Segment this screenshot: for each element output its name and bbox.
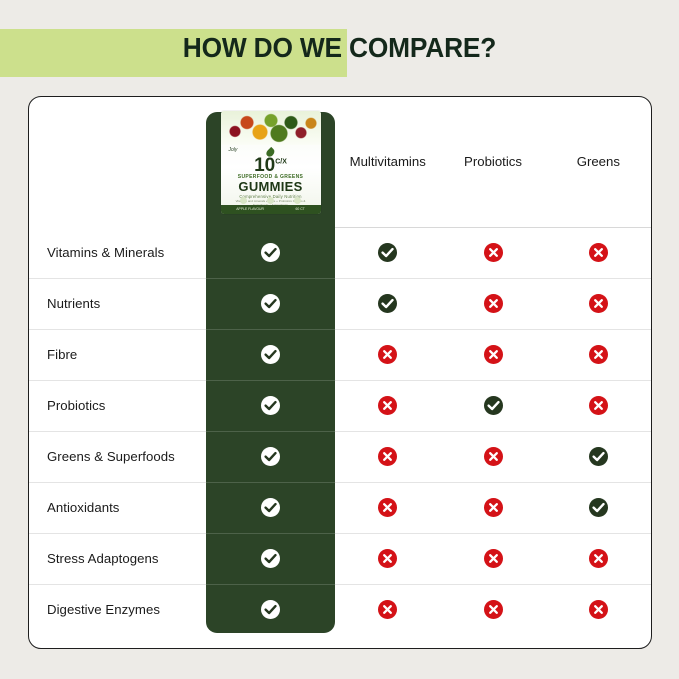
comparison-table: Joly 10C/X SUPERFOOD & GREENS GUMMIES Co… [29, 97, 651, 635]
cross-circle-icon [484, 345, 503, 364]
table-row: Greens & Superfoods [29, 431, 651, 482]
table-header: Joly 10C/X SUPERFOOD & GREENS GUMMIES Co… [29, 97, 651, 227]
cross-circle-icon [378, 345, 397, 364]
cell-greens-value [546, 533, 651, 584]
cell-greens-value [546, 329, 651, 380]
cell-product-value [206, 380, 335, 431]
cell-probiotics-value [440, 482, 545, 533]
cross-circle-icon [378, 549, 397, 568]
cell-product-value [206, 278, 335, 329]
check-circle-icon [261, 294, 280, 313]
table-row: Digestive Enzymes [29, 584, 651, 635]
row-feature-label: Greens & Superfoods [29, 431, 206, 482]
cell-product-value [206, 329, 335, 380]
cell-probiotics-value [440, 329, 545, 380]
cell-greens-value [546, 431, 651, 482]
pouch-flavour-label: APPLE FLAVOUR [236, 207, 264, 211]
header-probiotics: Probiotics [440, 97, 545, 227]
cross-circle-icon [484, 600, 503, 619]
table-row: Vitamins & Minerals [29, 227, 651, 278]
header-feature-column [29, 97, 206, 227]
cell-greens-value [546, 227, 651, 278]
table-row: Stress Adaptogens [29, 533, 651, 584]
page-title: HOW DO WE COMPARE? [20, 0, 658, 96]
row-feature-label: Nutrients [29, 278, 206, 329]
cell-multivitamins-value [335, 380, 440, 431]
cell-probiotics-value [440, 431, 545, 482]
cell-probiotics-value [440, 227, 545, 278]
check-circle-icon [261, 243, 280, 262]
check-circle-icon [261, 396, 280, 415]
check-circle-icon [378, 243, 397, 262]
cell-multivitamins-value [335, 329, 440, 380]
cell-greens-value [546, 584, 651, 635]
table-row: Nutrients [29, 278, 651, 329]
header-product-column: Joly 10C/X SUPERFOOD & GREENS GUMMIES Co… [206, 97, 335, 227]
pouch-brand-label: Joly [229, 147, 238, 153]
row-feature-label: Probiotics [29, 380, 206, 431]
check-circle-icon [589, 447, 608, 466]
cell-probiotics-value [440, 380, 545, 431]
cell-multivitamins-value [335, 227, 440, 278]
cross-circle-icon [589, 600, 608, 619]
product-pouch-image: Joly 10C/X SUPERFOOD & GREENS GUMMIES Co… [221, 111, 321, 214]
cell-multivitamins-value [335, 533, 440, 584]
cross-circle-icon [589, 294, 608, 313]
cell-probiotics-value [440, 278, 545, 329]
table-row: Fibre [29, 329, 651, 380]
cell-multivitamins-value [335, 431, 440, 482]
table-body: Vitamins & Minerals Nutrients Fibre Prob… [29, 227, 651, 635]
row-feature-label: Vitamins & Minerals [29, 227, 206, 278]
cell-multivitamins-value [335, 482, 440, 533]
cross-circle-icon [484, 447, 503, 466]
cross-circle-icon [484, 243, 503, 262]
cross-circle-icon [378, 447, 397, 466]
cross-circle-icon [589, 549, 608, 568]
benefit-icon-1 [240, 197, 247, 204]
cell-multivitamins-value [335, 278, 440, 329]
check-circle-icon [484, 396, 503, 415]
pouch-number: 10C/X [221, 156, 321, 175]
table-row: Antioxidants [29, 482, 651, 533]
cell-probiotics-value [440, 584, 545, 635]
comparison-card: Joly 10C/X SUPERFOOD & GREENS GUMMIES Co… [28, 96, 652, 649]
row-feature-label: Stress Adaptogens [29, 533, 206, 584]
pouch-fruit-artwork [221, 111, 321, 145]
cell-product-value [206, 533, 335, 584]
header-multivitamins: Multivitamins [335, 97, 440, 227]
pouch-footer-bar: APPLE FLAVOUR 60 CT [221, 205, 321, 214]
check-circle-icon [589, 498, 608, 517]
cross-circle-icon [589, 345, 608, 364]
check-circle-icon [378, 294, 397, 313]
pouch-title: GUMMIES [221, 180, 321, 194]
row-feature-label: Fibre [29, 329, 206, 380]
cell-product-value [206, 482, 335, 533]
cell-product-value [206, 431, 335, 482]
check-circle-icon [261, 447, 280, 466]
cross-circle-icon [484, 549, 503, 568]
pouch-benefit-icons [231, 197, 311, 204]
benefit-icon-2 [267, 197, 274, 204]
table-row: Probiotics [29, 380, 651, 431]
cell-product-value [206, 584, 335, 635]
benefit-icon-3 [294, 197, 301, 204]
check-circle-icon [261, 549, 280, 568]
cell-product-value [206, 227, 335, 278]
cell-greens-value [546, 482, 651, 533]
cross-circle-icon [378, 498, 397, 517]
cross-circle-icon [484, 294, 503, 313]
check-circle-icon [261, 498, 280, 517]
row-feature-label: Digestive Enzymes [29, 584, 206, 635]
cell-greens-value [546, 380, 651, 431]
page-header: HOW DO WE COMPARE? [0, 0, 679, 96]
table-header-row: Joly 10C/X SUPERFOOD & GREENS GUMMIES Co… [29, 97, 651, 227]
check-circle-icon [261, 600, 280, 619]
cross-circle-icon [589, 396, 608, 415]
row-feature-label: Antioxidants [29, 482, 206, 533]
cross-circle-icon [378, 396, 397, 415]
cell-multivitamins-value [335, 584, 440, 635]
cross-circle-icon [378, 600, 397, 619]
header-greens: Greens [546, 97, 651, 227]
cell-probiotics-value [440, 533, 545, 584]
pouch-count-label: 60 CT [296, 207, 305, 211]
cross-circle-icon [589, 243, 608, 262]
cross-circle-icon [484, 498, 503, 517]
pouch-number-value: 10 [254, 155, 275, 176]
cell-greens-value [546, 278, 651, 329]
check-circle-icon [261, 345, 280, 364]
pouch-number-sup: C/X [275, 158, 287, 165]
